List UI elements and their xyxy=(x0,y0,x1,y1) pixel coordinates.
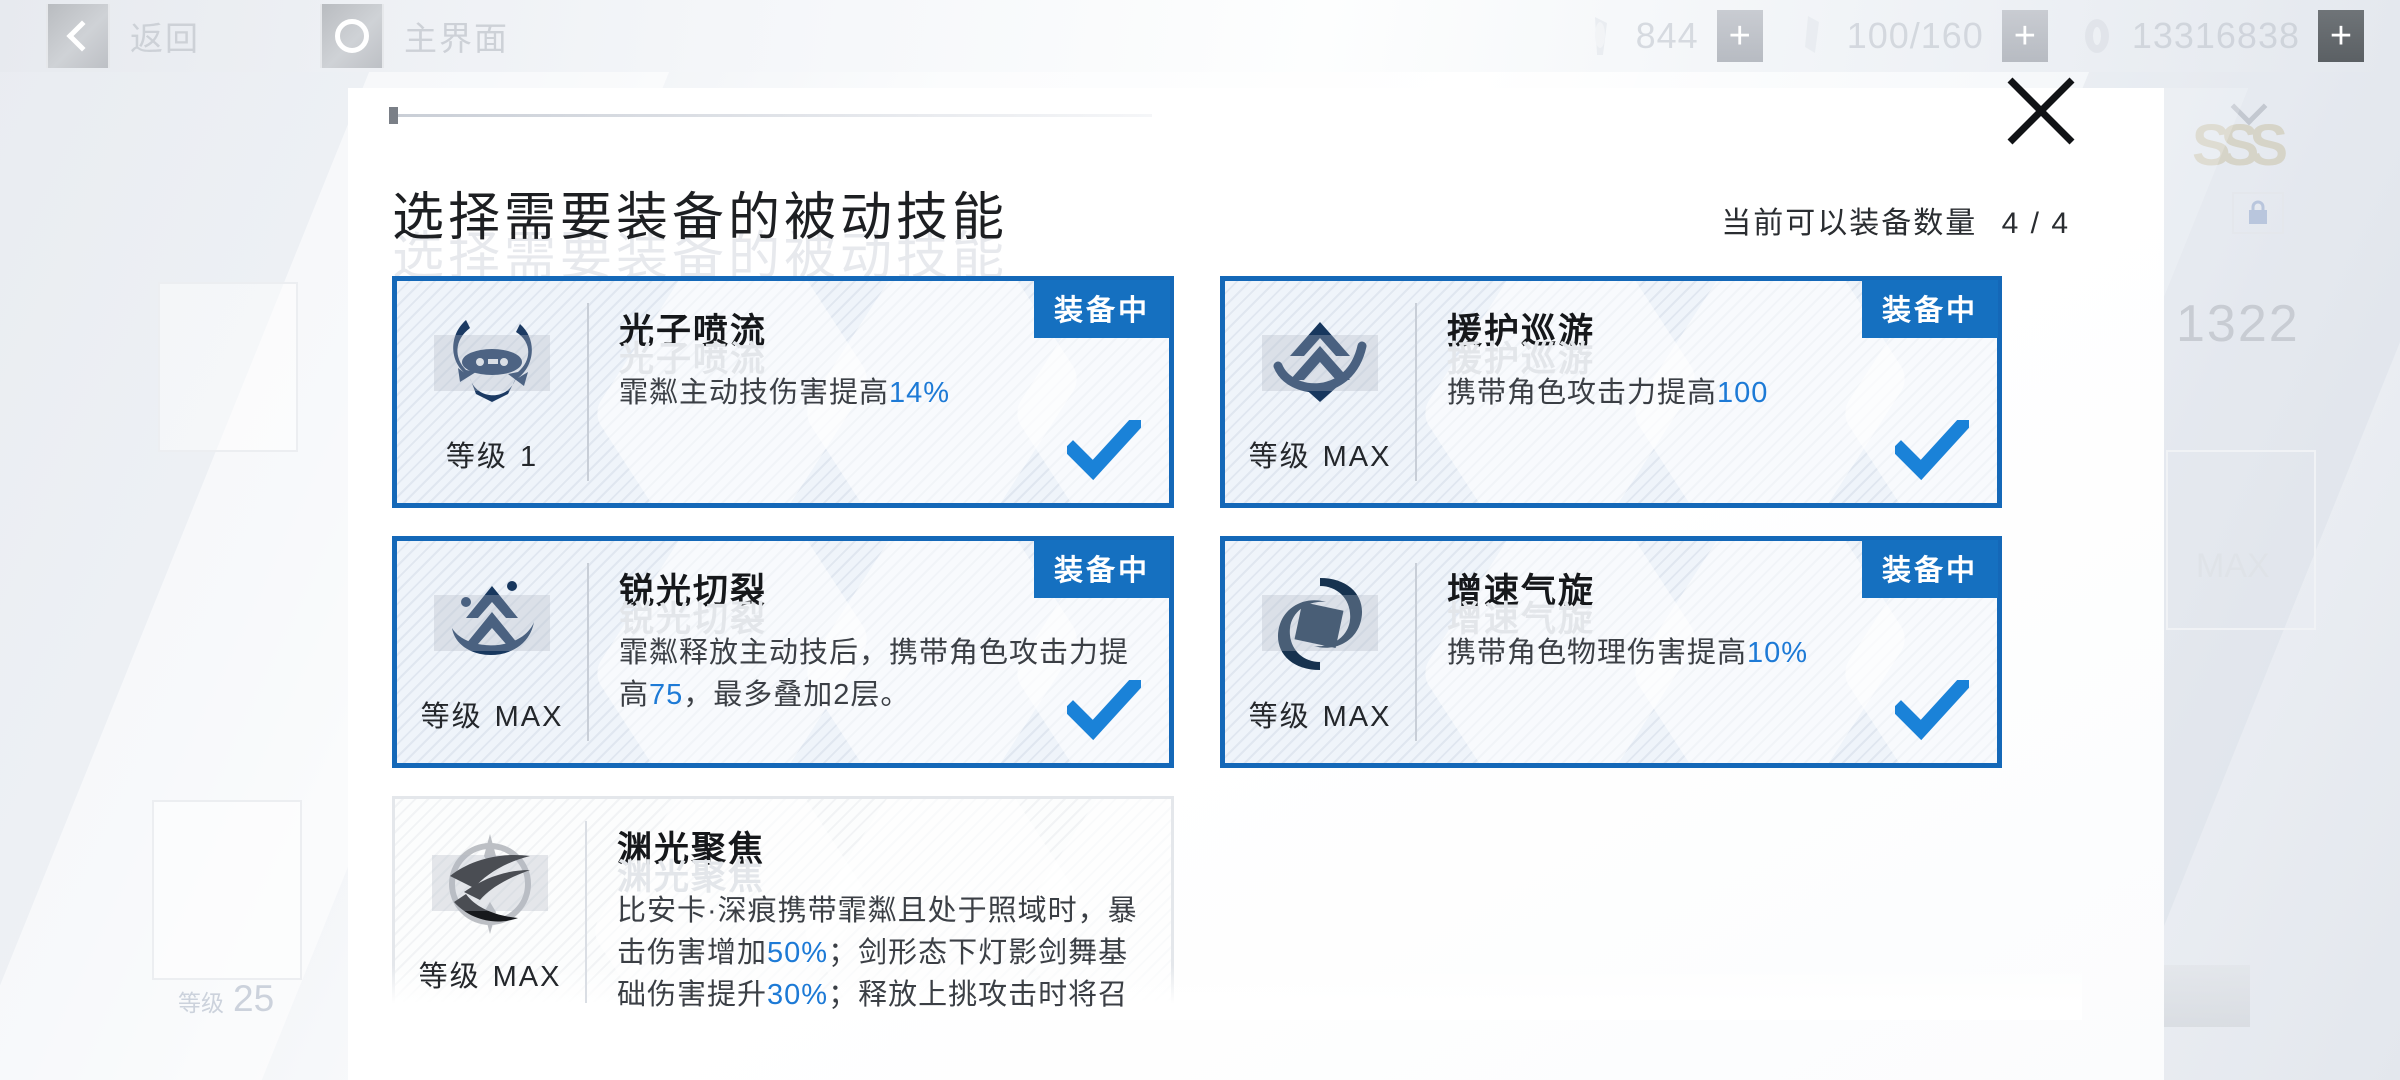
currency-battery-value: 100/160 xyxy=(1847,15,1984,57)
background-slot-level: 等级25 xyxy=(178,978,274,1020)
skill-desc-highlight: 30% xyxy=(767,979,828,1011)
dialog-divider-marker xyxy=(389,107,398,124)
equip-count-value: 4 / 4 xyxy=(2002,207,2070,240)
page-title: 选择需要装备的被动技能 xyxy=(392,175,1008,250)
skill-desc-text: 携带角色攻击力提高 xyxy=(1447,377,1717,409)
back-button-label: 返回 xyxy=(130,12,200,60)
skill-icon-column: 等级MAX xyxy=(397,541,587,763)
skill-icon-column: 等级MAX xyxy=(1225,281,1415,503)
background-slot[interactable] xyxy=(152,800,302,980)
skill-level-prefix: 等级 xyxy=(1249,701,1311,733)
coin-icon xyxy=(2074,11,2120,61)
skill-card[interactable]: 等级MAX援护巡游援护巡游携带角色攻击力提高100装备中 xyxy=(1220,276,2002,508)
skill-desc-highlight: 75 xyxy=(649,679,683,711)
status-badge: 装备中 xyxy=(1862,540,1998,598)
skill-card[interactable]: 等级MAX锐光切裂锐光切裂霏粼释放主动技后，携带角色攻击力提高75，最多叠加2层… xyxy=(392,536,1174,768)
add-ticket-button[interactable]: + xyxy=(1717,10,1763,62)
currency-ticket-value: 844 xyxy=(1636,15,1699,57)
cyclone-icon xyxy=(1256,569,1384,679)
currency-bar: 844 + 100/160 + 13316838 + xyxy=(1578,0,2390,72)
circle-icon xyxy=(320,4,384,68)
status-badge: 装备中 xyxy=(1034,540,1170,598)
check-icon xyxy=(1067,420,1141,487)
skill-icon-column: 等级1 xyxy=(397,281,587,503)
skill-desc-highlight: 100 xyxy=(1717,377,1768,409)
skill-desc-highlight: 14% xyxy=(889,377,950,409)
skill-description: 携带角色攻击力提高100 xyxy=(1447,372,1967,414)
skill-level: 等级MAX xyxy=(419,953,562,995)
skill-level-prefix: 等级 xyxy=(446,441,508,473)
skill-level: 等级MAX xyxy=(1249,693,1392,735)
skill-level: 等级MAX xyxy=(421,693,564,735)
home-button-label: 主界面 xyxy=(404,12,509,60)
dialog-divider xyxy=(392,114,1152,117)
skill-level: 等级1 xyxy=(446,433,538,475)
skill-level-value: MAX xyxy=(1323,441,1392,473)
battery-icon xyxy=(1789,11,1835,61)
ticket-icon xyxy=(1578,11,1624,61)
skill-card[interactable]: 等级1光子喷流光子喷流霏粼主动技伤害提高14%装备中 xyxy=(392,276,1174,508)
add-battery-button[interactable]: + xyxy=(2002,10,2048,62)
check-icon xyxy=(1895,680,1969,747)
skill-desc-highlight: 10% xyxy=(1747,637,1808,669)
check-icon xyxy=(1895,420,1969,487)
skill-description: 霏粼主动技伤害提高14% xyxy=(619,372,1139,414)
skill-desc-text: 携带角色物理伤害提高 xyxy=(1447,637,1747,669)
skill-desc-text: ，最多叠加2层。 xyxy=(683,679,910,711)
lock-icon xyxy=(2232,192,2284,234)
skill-level-prefix: 等级 xyxy=(419,961,481,993)
skill-description: 携带角色物理伤害提高10% xyxy=(1447,632,1967,674)
skill-icon-column: 等级MAX xyxy=(395,799,585,1016)
skill-level-value: MAX xyxy=(1323,701,1392,733)
skill-icon-column: 等级MAX xyxy=(1225,541,1415,763)
equip-count-label: 当前可以装备数量 xyxy=(1721,207,1977,240)
skill-description: 霏粼释放主动技后，携带角色攻击力提高75，最多叠加2层。 xyxy=(619,632,1139,716)
close-icon[interactable] xyxy=(2002,72,2080,150)
power-value: 1322 xyxy=(2176,294,2300,354)
skill-level-value: MAX xyxy=(493,961,562,993)
equip-count: 当前可以装备数量 4 / 4 xyxy=(1721,198,2070,242)
skill-level: 等级MAX xyxy=(1249,433,1392,475)
status-badge: 装备中 xyxy=(1034,280,1170,338)
skill-card-list[interactable]: 等级1光子喷流光子喷流霏粼主动技伤害提高14%装备中等级MAX援护巡游援护巡游携… xyxy=(392,276,2082,1016)
chevron-crescent-icon xyxy=(428,569,556,679)
currency-coin: 13316838 xyxy=(2074,11,2300,61)
currency-coin-value: 13316838 xyxy=(2132,15,2300,57)
background-slot[interactable] xyxy=(158,282,298,452)
skill-level-value: 1 xyxy=(520,441,538,473)
skill-card[interactable]: 等级MAX增速气旋增速气旋携带角色物理伤害提高10%装备中 xyxy=(1220,536,2002,768)
drone-swirl-icon xyxy=(428,309,556,419)
currency-ticket: 844 xyxy=(1578,11,1699,61)
chevron-left-icon xyxy=(46,4,110,68)
background-slot[interactable] xyxy=(2166,450,2316,630)
skill-text-column: 渊光聚焦渊光聚焦比安卡·深痕携带霏粼且处于照域时，暴击伤害增加50%；剑形态下灯… xyxy=(587,799,1171,1016)
chevron-orbit-icon xyxy=(1256,309,1384,419)
back-button[interactable]: 返回 xyxy=(46,4,200,68)
skill-level-prefix: 等级 xyxy=(421,701,483,733)
check-icon xyxy=(1067,680,1141,747)
skill-desc-text: 霏粼主动技伤害提高 xyxy=(619,377,889,409)
background-slot-max-label: MAX xyxy=(2196,547,2270,586)
skill-card[interactable]: 等级MAX渊光聚焦渊光聚焦比安卡·深痕携带霏粼且处于照域时，暴击伤害增加50%；… xyxy=(392,796,1174,1016)
skill-description: 比安卡·深痕携带霏粼且处于照域时，暴击伤害增加50%；剑形态下灯影剑舞基础伤害提… xyxy=(617,890,1141,1016)
skill-level-value: MAX xyxy=(495,701,564,733)
status-badge: 装备中 xyxy=(1862,280,1998,338)
home-button[interactable]: 主界面 xyxy=(320,4,509,68)
blade-compass-icon xyxy=(426,829,554,939)
top-bar: 返回 主界面 844 + 100/160 + 13316838 + xyxy=(0,0,2400,72)
skill-desc-highlight: 50% xyxy=(767,937,828,969)
currency-battery: 100/160 xyxy=(1789,11,1984,61)
skill-level-prefix: 等级 xyxy=(1249,441,1311,473)
add-coin-button[interactable]: + xyxy=(2318,10,2364,62)
